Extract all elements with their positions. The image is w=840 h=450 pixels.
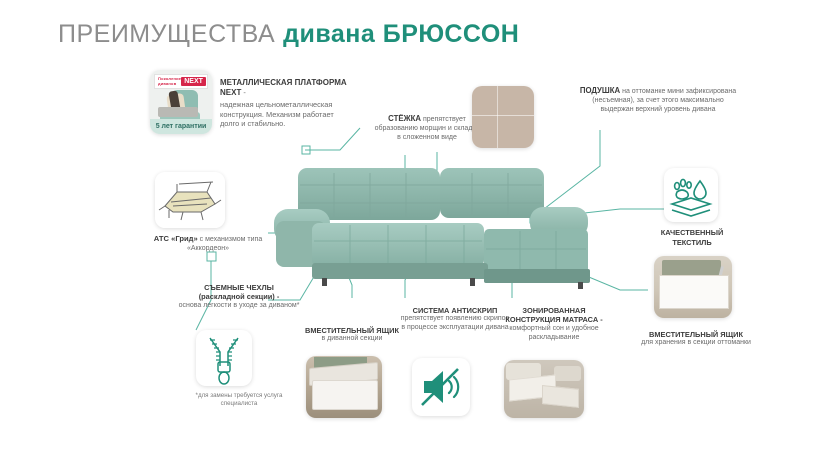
next-banner-line2: диванов [158, 81, 176, 86]
callout-platform-body: надежная цельнометаллическая конструкция… [220, 100, 348, 128]
callout-platform: МЕТАЛЛИЧЕСКАЯ ПЛАТФОРМА NEXT - надежная … [220, 78, 348, 129]
callout-box-ottoman-heading: ВМЕСТИТЕЛЬНЫЙ ЯЩИК [640, 330, 752, 339]
metal-frame-icon [155, 172, 225, 228]
zipper-icon [196, 330, 252, 386]
callout-mattress-heading: ЗОНИРОВАННАЯ КОНСТРУКЦИЯ МАТРАСА - [496, 306, 612, 325]
callout-platform-dash: - [241, 88, 246, 97]
callout-box-ottoman-body: для хранения в секции оттоманки [640, 339, 752, 348]
armchair-illustration [158, 88, 204, 118]
callout-box-sofa-body: в диванной секции [296, 335, 408, 344]
next-platform-thumbnail: Поколениедиванов NEXT 5 лет гарантии [150, 70, 212, 134]
callout-mattress: ЗОНИРОВАННАЯ КОНСТРУКЦИЯ МАТРАСА - комфо… [496, 306, 612, 343]
callout-pillow-heading: ПОДУШКА [580, 86, 620, 95]
title-part-1: ПРЕИМУЩЕСТВА [58, 20, 275, 48]
antisqueak-tile [412, 358, 470, 416]
callout-ats: АТС «Грид» с механизмом типа «Аккордеон» [148, 234, 268, 254]
callout-covers-heading: СЪЕМНЫЕ ЧЕХЛЫ [178, 283, 300, 292]
callout-textile-line1: КАЧЕСТВЕННЫЙ [650, 228, 734, 238]
callout-antisqueak-body: препятствует появлению скрипов в процесс… [400, 315, 510, 333]
textile-quality-tile [664, 168, 718, 222]
callout-covers-body: основа легкости в уходе за диваном* [178, 302, 300, 311]
next-banner-mark: NEXT [181, 77, 206, 86]
main-sofa-image [272, 163, 594, 291]
muted-speaker-icon [412, 358, 470, 416]
callout-textile-line2: ТЕКСТИЛЬ [650, 238, 734, 248]
infographic-root: ПРЕИМУЩЕСТВАдивана БРЮССОН [0, 0, 840, 450]
callout-covers-heading2: (раскладной секции) - [178, 292, 300, 301]
ats-grid-thumbnail [155, 172, 225, 228]
title-part-2: дивана БРЮССОН [283, 20, 519, 48]
paw-waterdrop-fabric-icon [664, 168, 718, 222]
storage-sofa-photo [306, 356, 382, 418]
callout-textile: КАЧЕСТВЕННЫЙ ТЕКСТИЛЬ [650, 228, 734, 248]
callout-stitch-heading: СТЁЖКА [388, 114, 421, 123]
callout-platform-heading: МЕТАЛЛИЧЕСКАЯ ПЛАТФОРМА NEXT [220, 78, 347, 97]
zipper-tile [196, 330, 252, 386]
warranty-label: 5 лет гарантии [150, 119, 212, 134]
mattress-unfolded-photo [504, 360, 584, 418]
callout-box-ottoman: ВМЕСТИТЕЛЬНЫЙ ЯЩИК для хранения в секции… [640, 330, 752, 348]
callout-mattress-body: комфортный сон и удобное раскладывание [496, 325, 612, 343]
storage-ottoman-photo [654, 256, 732, 318]
callout-box-sofa: ВМЕСТИТЕЛЬНЫЙ ЯЩИК в диванной секции [296, 326, 408, 344]
callout-covers: СЪЕМНЫЕ ЧЕХЛЫ (раскладной секции) - осно… [178, 283, 300, 311]
callout-antisqueak-heading: СИСТЕМА АНТИСКРИП [400, 306, 510, 315]
callout-ats-body: с механизмом типа «Аккордеон» [187, 236, 262, 252]
callout-antisqueak: СИСТЕМА АНТИСКРИП препятствует появлению… [400, 306, 510, 333]
callout-pillow: ПОДУШКА на оттоманке мини зафиксирована … [578, 86, 738, 115]
pillow-swatch-image [472, 86, 534, 148]
callout-ats-heading: АТС «Грид» [154, 234, 198, 243]
callout-covers-footnote: *для замены требуется услуга специалиста [180, 392, 298, 408]
next-banner: Поколениедиванов NEXT [154, 74, 208, 89]
callout-stitch: СТЁЖКА препятствует образованию морщин и… [372, 114, 482, 143]
page-title: ПРЕИМУЩЕСТВАдивана БРЮССОН [58, 20, 519, 49]
